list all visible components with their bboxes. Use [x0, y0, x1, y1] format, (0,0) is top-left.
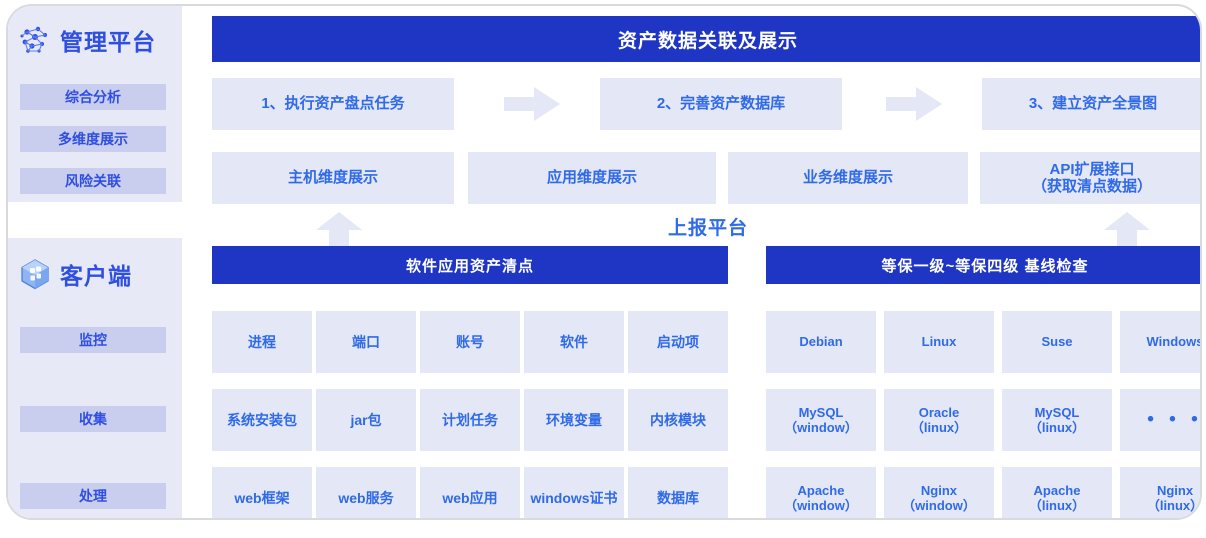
step-2[interactable]: 2、完善资产数据库	[600, 78, 842, 130]
asset-cell[interactable]: web应用	[420, 467, 520, 520]
main-content: 资产数据关联及展示 1、执行资产盘点任务 2、完善资产数据库 3、建立资产全景图…	[212, 6, 1202, 518]
platform-header: 管理平台	[8, 14, 182, 66]
sidebar-item-comprehensive-analysis[interactable]: 综合分析	[20, 84, 166, 110]
right-section-banner: 等保一级~等保四级 基线检查	[766, 246, 1202, 284]
left-rail: 管理平台 综合分析 多维度展示 风险关联	[8, 6, 182, 518]
baseline-cell[interactable]: Debian	[766, 311, 876, 373]
sidebar-item-multi-dimension-display[interactable]: 多维度展示	[20, 126, 166, 152]
top-banner: 资产数据关联及展示	[212, 16, 1202, 62]
step-3[interactable]: 3、建立资产全景图	[982, 78, 1202, 130]
baseline-cell[interactable]: Windows	[1120, 311, 1202, 373]
baseline-cell[interactable]: Nginx （window）	[884, 467, 994, 520]
diagram-canvas: 管理平台 综合分析 多维度展示 风险关联	[0, 0, 1206, 538]
client-header: 客户端	[8, 248, 182, 300]
dimension-host[interactable]: 主机维度展示	[212, 152, 454, 204]
baseline-cell[interactable]: MySQL （linux）	[1002, 389, 1112, 451]
sidebar-item-label: 综合分析	[65, 87, 121, 107]
asset-cell[interactable]: 系统安装包	[212, 389, 312, 451]
sidebar-item-processing[interactable]: 处理	[20, 483, 166, 509]
baseline-cell[interactable]: Oracle （linux）	[884, 389, 994, 451]
cube-icon	[18, 257, 52, 291]
client-title: 客户端	[60, 257, 132, 291]
baseline-cell[interactable]: MySQL （window）	[766, 389, 876, 451]
arrow-right-icon-2	[886, 85, 942, 123]
asset-cell[interactable]: 计划任务	[420, 389, 520, 451]
sidebar-item-label: 监控	[79, 330, 107, 350]
uplink-label: 上报平台	[212, 213, 1202, 240]
sidebar-item-label: 收集	[79, 409, 107, 429]
sidebar-item-risk-correlation[interactable]: 风险关联	[20, 168, 166, 194]
baseline-cell[interactable]: Suse	[1002, 311, 1112, 373]
asset-cell[interactable]: 端口	[316, 311, 416, 373]
asset-cell[interactable]: 启动项	[628, 311, 728, 373]
asset-cell[interactable]: 环境变量	[524, 389, 624, 451]
sidebar-item-monitoring[interactable]: 监控	[20, 327, 166, 353]
asset-cell[interactable]: 进程	[212, 311, 312, 373]
platform-title: 管理平台	[60, 23, 156, 57]
baseline-cell[interactable]: Apache （linux）	[1002, 467, 1112, 520]
sidebar-item-label: 风险关联	[65, 171, 121, 191]
asset-cell[interactable]: 数据库	[628, 467, 728, 520]
dimension-api[interactable]: API扩展接口 （获取清点数据）	[980, 152, 1202, 204]
baseline-cell[interactable]: Linux	[884, 311, 994, 373]
left-section-banner: 软件应用资产清点	[212, 246, 728, 284]
dimension-business[interactable]: 业务维度展示	[728, 152, 968, 204]
asset-cell[interactable]: 账号	[420, 311, 520, 373]
asset-cell[interactable]: windows证书	[524, 467, 624, 520]
baseline-cell[interactable]: Apache （window）	[766, 467, 876, 520]
network-graph-icon	[18, 23, 52, 57]
asset-cell[interactable]: web服务	[316, 467, 416, 520]
asset-cell[interactable]: web框架	[212, 467, 312, 520]
sidebar-item-collection[interactable]: 收集	[20, 406, 166, 432]
asset-cell[interactable]: 内核模块	[628, 389, 728, 451]
asset-cell[interactable]: jar包	[316, 389, 416, 451]
baseline-cell-more[interactable]: • • •	[1120, 389, 1202, 451]
sidebar-item-label: 多维度展示	[58, 129, 128, 149]
diagram-card: 管理平台 综合分析 多维度展示 风险关联	[6, 4, 1202, 520]
asset-cell[interactable]: 软件	[524, 311, 624, 373]
arrow-right-icon-1	[504, 85, 560, 123]
dimension-application[interactable]: 应用维度展示	[468, 152, 716, 204]
step-1[interactable]: 1、执行资产盘点任务	[212, 78, 454, 130]
baseline-cell[interactable]: Nginx （linux）	[1120, 467, 1202, 520]
sidebar-item-label: 处理	[79, 486, 107, 506]
